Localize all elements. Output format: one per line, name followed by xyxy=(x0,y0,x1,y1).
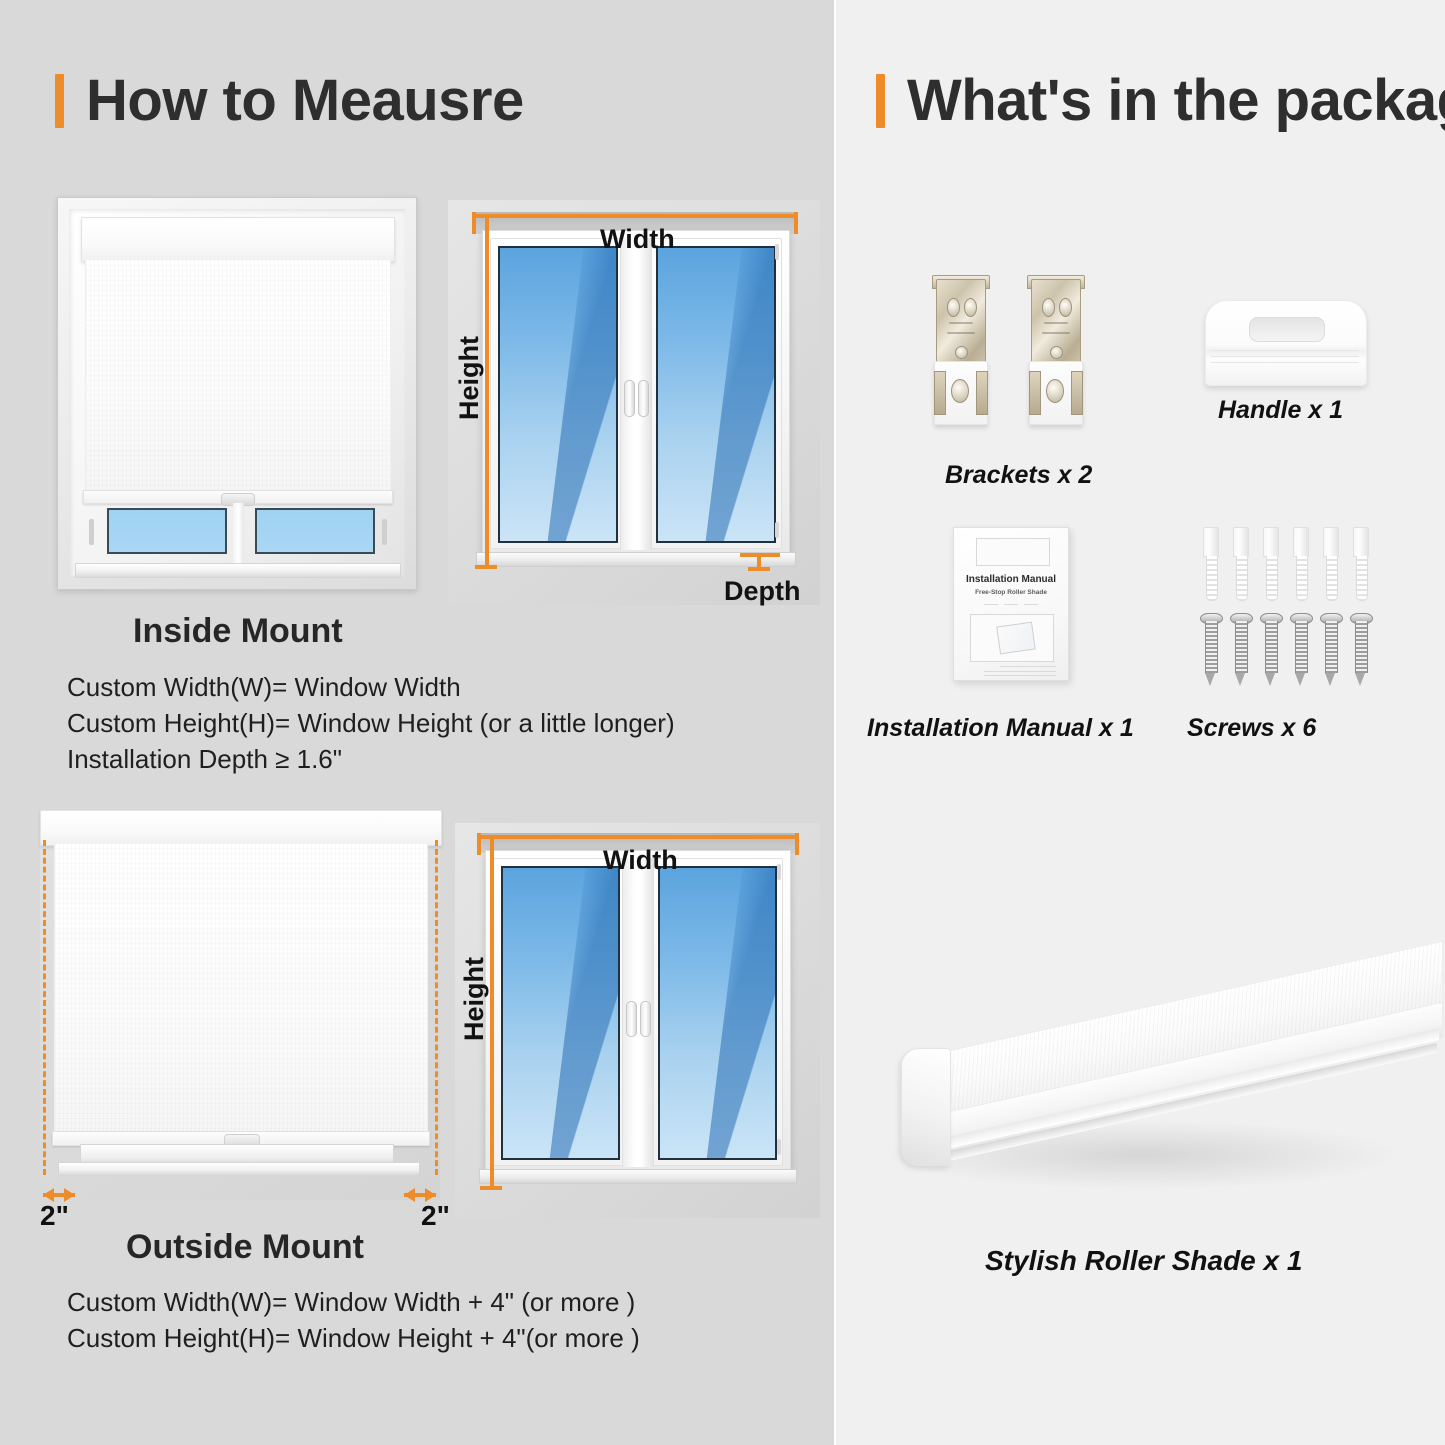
roller-shade-label: Stylish Roller Shade x 1 xyxy=(985,1245,1302,1277)
heading-label: How to Meausre xyxy=(86,72,524,130)
width-dimension-line xyxy=(472,214,798,218)
overhang-right-label: 2" xyxy=(421,1200,450,1232)
window-glass-right xyxy=(255,508,375,554)
window-handle-left-icon xyxy=(626,1001,637,1037)
installation-manual-label: Installation Manual x 1 xyxy=(867,714,1134,743)
inside-mount-shade-illustration xyxy=(57,197,417,590)
window-sill xyxy=(479,1169,797,1184)
window-handle-right-icon xyxy=(640,1001,651,1037)
inside-mount-window-diagram: Width Height Depth xyxy=(448,200,820,605)
height-dimension-cap-bottom xyxy=(480,1186,502,1190)
screws-label: Screws x 6 xyxy=(1187,714,1316,743)
handle-label: Handle x 1 xyxy=(1218,396,1343,425)
height-dimension-cap-top xyxy=(475,214,497,218)
window-hinge-top-icon xyxy=(777,864,781,880)
window-hinge-right-icon xyxy=(382,519,387,545)
height-label: Height xyxy=(459,957,490,1041)
inside-mount-description: Custom Width(W)= Window Width Custom Hei… xyxy=(67,670,675,778)
how-to-measure-panel: How to Meausre xyxy=(0,0,835,1445)
shade-cassette xyxy=(40,810,442,846)
window-glass-left xyxy=(107,508,227,554)
shade-cassette xyxy=(81,217,395,262)
window-hinge-top-icon xyxy=(775,244,779,260)
accent-bar-icon xyxy=(876,74,885,128)
inside-mount-line-3: Installation Depth ≥ 1.6" xyxy=(67,742,675,778)
outside-mount-window-diagram: Width Height xyxy=(455,823,820,1218)
width-dimension-line xyxy=(477,835,799,839)
height-dimension-cap-bottom xyxy=(475,565,497,569)
width-dimension-cap-right xyxy=(794,212,798,234)
window-sill xyxy=(75,563,401,578)
window-pane-left xyxy=(501,866,620,1160)
manual-icon: Installation Manual Free-Stop Roller Sha… xyxy=(953,527,1069,681)
panel-divider xyxy=(834,0,836,1445)
height-dimension-line xyxy=(490,835,494,1190)
package-heading: What's in the package xyxy=(876,72,1445,130)
window-handle-right-icon xyxy=(638,380,649,417)
window-hinge-left-icon xyxy=(89,519,94,545)
outside-mount-title: Outside Mount xyxy=(126,1228,364,1267)
handle-icon xyxy=(1205,300,1365,384)
outside-mount-line-1: Custom Width(W)= Window Width + 4" (or m… xyxy=(67,1285,640,1321)
manual-subtitle: Free-Stop Roller Shade xyxy=(954,589,1068,596)
window-handle-left-icon xyxy=(624,380,635,417)
outside-mount-guide-right xyxy=(435,840,438,1175)
shade-fabric xyxy=(85,260,391,491)
overhang-left-label: 2" xyxy=(40,1200,69,1232)
depth-label: Depth xyxy=(724,576,801,607)
how-to-measure-heading: How to Meausre xyxy=(55,72,524,130)
outside-mount-shade-illustration xyxy=(40,810,440,1200)
screw-icon xyxy=(1203,527,1383,687)
window-center-mullion xyxy=(233,503,244,563)
window-hinge-bottom-icon xyxy=(775,522,779,538)
brackets-label: Brackets x 2 xyxy=(945,461,1092,490)
outside-mount-description: Custom Width(W)= Window Width + 4" (or m… xyxy=(67,1285,640,1357)
height-dimension-line xyxy=(485,214,489,569)
window-hinge-bottom-icon xyxy=(777,1139,781,1155)
inside-mount-title: Inside Mount xyxy=(133,612,343,651)
width-dimension-cap-right xyxy=(795,833,799,855)
inside-mount-line-2: Custom Height(H)= Window Height (or a li… xyxy=(67,706,675,742)
outside-mount-line-2: Custom Height(H)= Window Height + 4"(or … xyxy=(67,1321,640,1357)
window-apron xyxy=(58,1162,420,1176)
accent-bar-icon xyxy=(55,74,64,128)
heading-label: What's in the package xyxy=(907,72,1445,130)
roller-shade-icon xyxy=(863,870,1433,1200)
outside-mount-guide-left xyxy=(43,840,46,1175)
height-label: Height xyxy=(454,336,485,420)
width-label: Width xyxy=(603,845,678,876)
package-contents-panel: What's in the package xyxy=(835,0,1445,1445)
infographic-page: How to Meausre xyxy=(0,0,1445,1445)
window-pane-right xyxy=(658,866,777,1160)
height-dimension-cap-top xyxy=(480,835,502,839)
depth-dimension-marker xyxy=(740,553,780,573)
window-pane-right xyxy=(656,246,776,543)
width-label: Width xyxy=(600,224,675,255)
manual-title: Installation Manual xyxy=(954,574,1068,585)
window-pane-left xyxy=(498,246,618,543)
shade-fabric xyxy=(54,844,428,1134)
inside-mount-line-1: Custom Width(W)= Window Width xyxy=(67,670,675,706)
